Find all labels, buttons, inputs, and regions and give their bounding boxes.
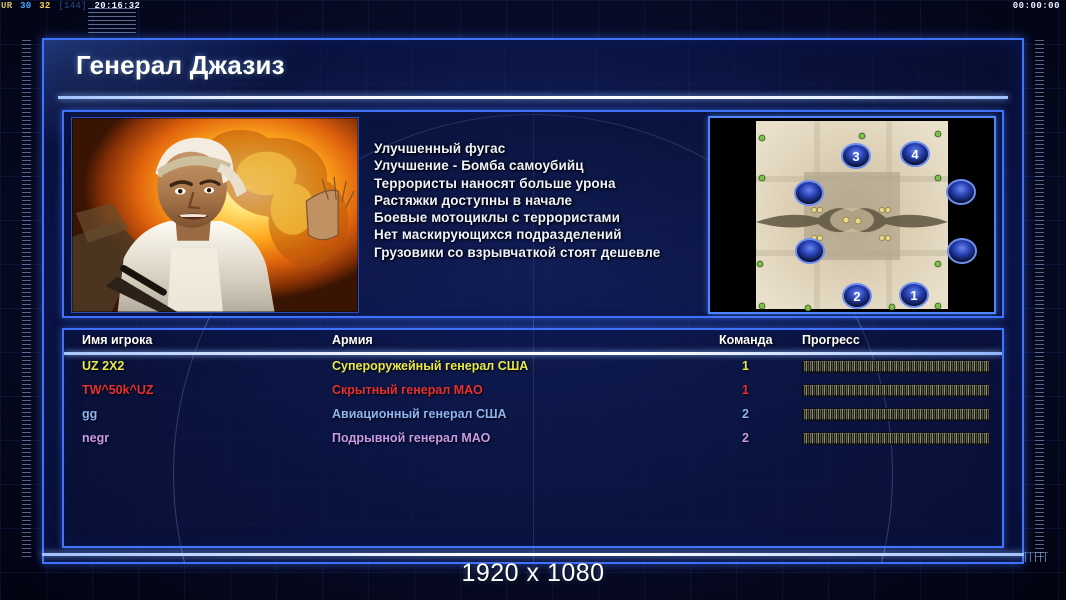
cell-team: 1	[742, 383, 749, 397]
topbar-bracket: [144]	[57, 0, 88, 13]
column-header-player-name: Имя игрока	[82, 333, 152, 347]
resolution-overlay: 1920 x 1080	[0, 559, 1066, 588]
table-row[interactable]: TW^50k^UZ Скрытный генерал МАО 1	[64, 380, 1002, 404]
ruler-right-icon	[1035, 40, 1044, 560]
match-timer: 00:00:00	[1013, 0, 1060, 13]
topbar-stat2: 32	[38, 0, 51, 13]
progress-bar	[802, 408, 990, 421]
ruler-left-icon	[22, 40, 31, 560]
title-divider	[58, 96, 1008, 99]
topbar-stat1: 30	[19, 0, 32, 13]
top-status-bar: UR 30 32 [144] 20:16:32 00:00:00	[0, 0, 1066, 13]
ability-line: Улучшение - Бомба самоубийц	[374, 157, 702, 174]
cell-team: 2	[742, 431, 749, 445]
cell-army: Скрытный генерал МАО	[332, 383, 483, 397]
general-portrait	[71, 117, 359, 313]
panel-header: Генерал Джазиз	[44, 40, 1022, 96]
svg-text:1: 1	[910, 288, 917, 303]
minimap-preview[interactable]: 3 4 2 1	[708, 116, 996, 314]
svg-text:4: 4	[911, 147, 919, 162]
progress-bar	[802, 360, 990, 373]
ability-line: Грузовики со взрывчаткой стоят дешевле	[374, 244, 702, 261]
player-table: Имя игрока Армия Команда Прогресс UZ 2X2…	[62, 328, 1004, 548]
svg-text:3: 3	[852, 149, 859, 164]
svg-text:2: 2	[853, 289, 860, 304]
topbar-label: UR	[0, 0, 13, 13]
general-abilities-list: Улучшенный фугас Улучшение - Бомба самоу…	[374, 140, 702, 261]
column-header-progress: Прогресс	[802, 333, 860, 347]
general-info-panel: Генерал Джазиз	[42, 38, 1024, 564]
cell-team: 1	[742, 359, 749, 373]
table-header-row: Имя игрока Армия Команда Прогресс	[64, 330, 1002, 354]
portrait-artwork-icon	[72, 118, 358, 312]
column-header-team: Команда	[719, 333, 773, 347]
table-body: UZ 2X2 Супероружейный генерал США 1 TW^5…	[64, 356, 1002, 452]
table-row[interactable]: negr Подрывной генерал МАО 2	[64, 428, 1002, 452]
cell-army: Супероружейный генерал США	[332, 359, 528, 373]
page-title: Генерал Джазиз	[76, 50, 285, 81]
cell-army: Подрывной генерал МАО	[332, 431, 490, 445]
ability-line: Боевые мотоциклы с террористами	[374, 209, 702, 226]
cell-army: Авиационный генерал США	[332, 407, 507, 421]
cell-player-name: negr	[82, 431, 109, 445]
minimap-artwork-icon: 3 4 2 1	[710, 118, 994, 312]
cell-team: 2	[742, 407, 749, 421]
bottom-divider	[42, 553, 1024, 556]
topbar-clock: 20:16:32	[94, 0, 142, 13]
cell-player-name: UZ 2X2	[82, 359, 124, 373]
table-header-divider	[64, 352, 1002, 355]
progress-bar	[802, 384, 990, 397]
ability-line: Улучшенный фугас	[374, 140, 702, 157]
progress-bar	[802, 432, 990, 445]
ability-line: Растяжки доступны в начале	[374, 192, 702, 209]
column-header-army: Армия	[332, 333, 373, 347]
ability-line: Террористы наносят больше урона	[374, 175, 702, 192]
cell-player-name: gg	[82, 407, 97, 421]
cell-player-name: TW^50k^UZ	[82, 383, 154, 397]
general-detail-frame: Улучшенный фугас Улучшение - Бомба самоу…	[62, 110, 1004, 318]
ability-line: Нет маскирующихся подразделений	[374, 226, 702, 243]
table-row[interactable]: UZ 2X2 Супероружейный генерал США 1	[64, 356, 1002, 380]
table-row[interactable]: gg Авиационный генерал США 2	[64, 404, 1002, 428]
